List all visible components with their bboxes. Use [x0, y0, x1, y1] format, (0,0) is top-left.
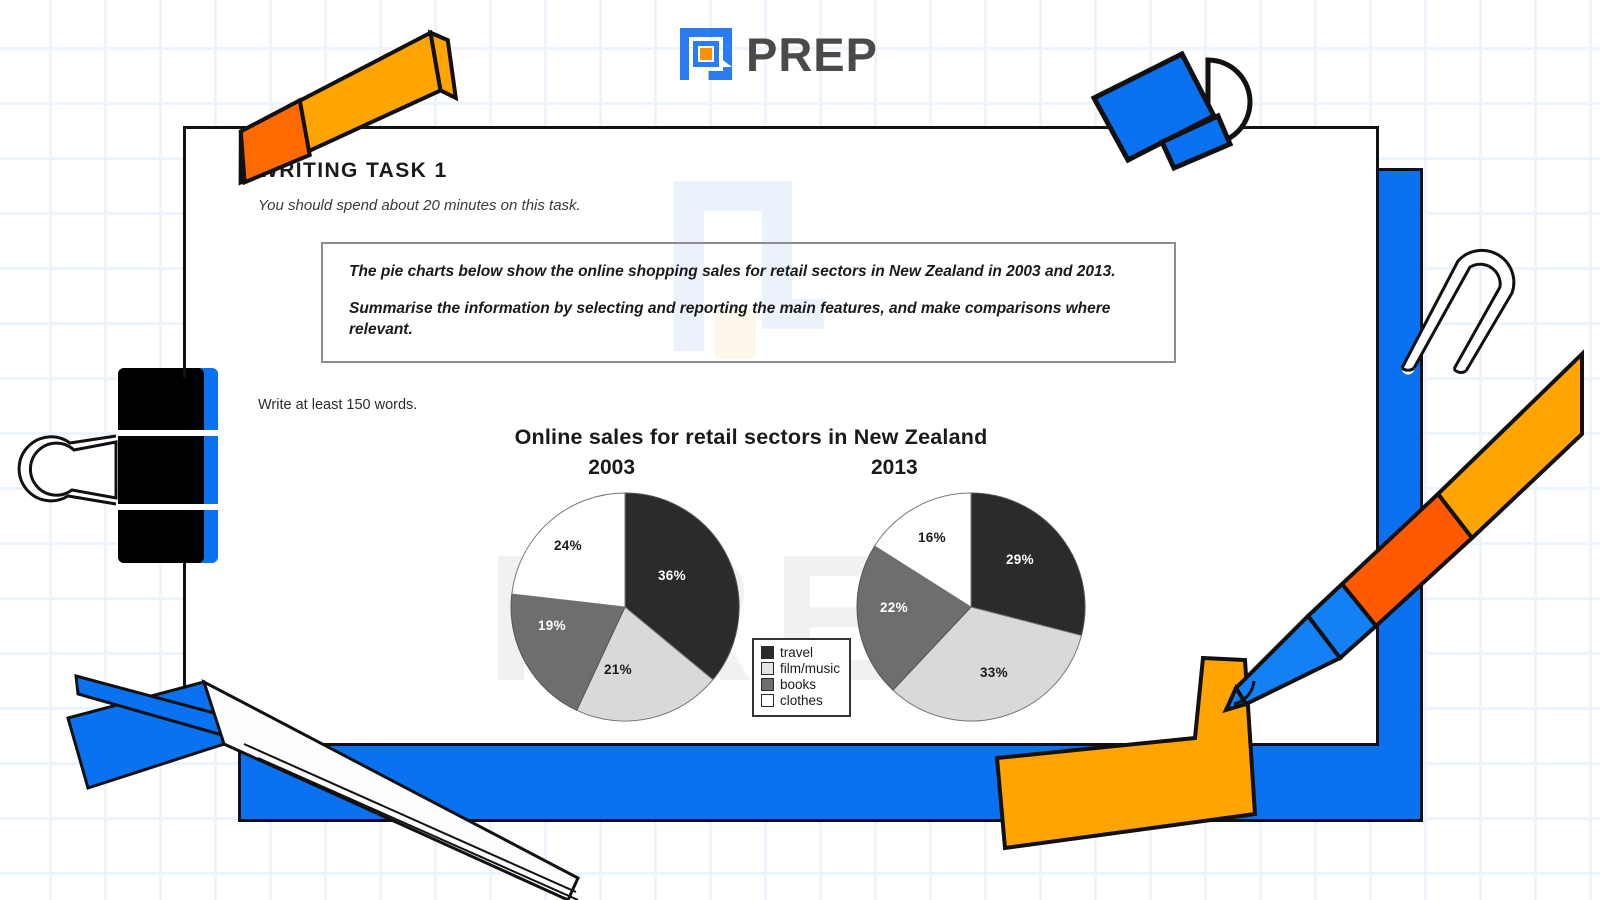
pen-blue-icon: [48, 648, 578, 900]
pie-slice-label-film-2003: 21%: [604, 662, 632, 677]
pen-orange-icon: [1190, 326, 1582, 708]
legend-item-clothes: clothes: [761, 693, 840, 708]
prompt-paragraph-2: Summarise the information by selecting a…: [349, 299, 1150, 341]
eraser-blue-icon: [1090, 50, 1270, 180]
eraser-orange-icon: [228, 58, 468, 188]
year-label-2013: 2013: [871, 456, 918, 480]
legend-swatch-books: [761, 678, 774, 691]
pie-slice-label-travel-2013: 29%: [1006, 552, 1034, 567]
legend-label-film-music: film/music: [780, 661, 840, 676]
prep-logo: PREP: [680, 28, 878, 80]
pie-slice-label-travel-2003: 36%: [658, 568, 686, 583]
word-count-note: Write at least 150 words.: [258, 397, 1336, 413]
legend-swatch-clothes: [761, 694, 774, 707]
legend-item-books: books: [761, 677, 840, 692]
legend-item-film-music: film/music: [761, 661, 840, 676]
pie-slice-label-books-2013: 22%: [880, 600, 908, 615]
year-label-2003: 2003: [588, 456, 635, 480]
pie-slice-label-books-2003: 19%: [538, 618, 566, 633]
legend-swatch-film-music: [761, 662, 774, 675]
chart-legend: travel film/music books clothes: [752, 638, 851, 717]
pie-slice-label-clothes-2003: 24%: [554, 538, 582, 553]
prep-logo-icon: [680, 28, 732, 80]
legend-label-clothes: clothes: [780, 693, 823, 708]
task-instruction: You should spend about 20 minutes on thi…: [258, 197, 1336, 214]
legend-swatch-travel: [761, 646, 774, 659]
prompt-paragraph-1: The pie charts below show the online sho…: [349, 262, 1150, 283]
prompt-box: The pie charts below show the online sho…: [321, 242, 1176, 363]
legend-label-books: books: [780, 677, 816, 692]
brand-name: PREP: [746, 31, 878, 78]
legend-label-travel: travel: [780, 645, 813, 660]
binder-clip-icon: [8, 358, 248, 573]
pie-slice-label-clothes-2013: 16%: [918, 530, 946, 545]
legend-item-travel: travel: [761, 645, 840, 660]
